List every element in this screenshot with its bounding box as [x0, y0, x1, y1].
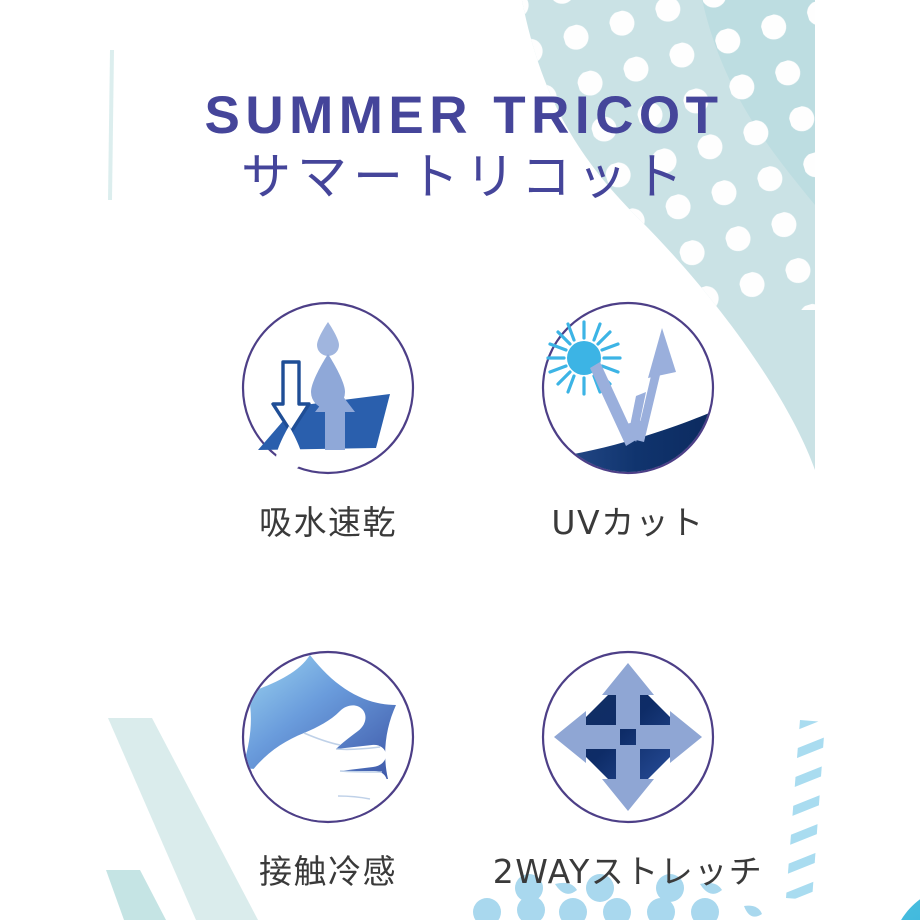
two-way-stretch-icon	[540, 649, 716, 825]
uv-cut-icon	[540, 300, 716, 476]
feature-label-cooling-touch: 接触冷感	[259, 845, 397, 893]
feature-uv-cut: UVカット	[478, 300, 778, 544]
banner-title-block: SUMMER TRICOT サマートリコット	[0, 88, 920, 212]
feature-grid: 吸水速乾	[0, 300, 920, 893]
title-english: SUMMER TRICOT	[0, 88, 920, 144]
feature-label-uv-cut: UVカット	[551, 496, 704, 544]
feature-label-water-absorption: 吸水速乾	[259, 496, 397, 544]
summer-tricot-feature-banner: SUMMER TRICOT サマートリコット	[0, 0, 920, 920]
feature-row-top: 吸水速乾	[0, 300, 920, 544]
feature-two-way-stretch: 2WAYストレッチ	[478, 649, 778, 893]
water-absorption-quick-dry-icon	[240, 300, 416, 476]
title-japanese: サマートリコット	[0, 144, 920, 212]
feature-cooling-touch: 接触冷感	[178, 649, 478, 893]
feature-label-two-way-stretch: 2WAYストレッチ	[493, 845, 764, 893]
cooling-touch-icon	[240, 649, 416, 825]
feature-water-absorption: 吸水速乾	[178, 300, 478, 544]
feature-row-bottom: 接触冷感	[0, 649, 920, 893]
